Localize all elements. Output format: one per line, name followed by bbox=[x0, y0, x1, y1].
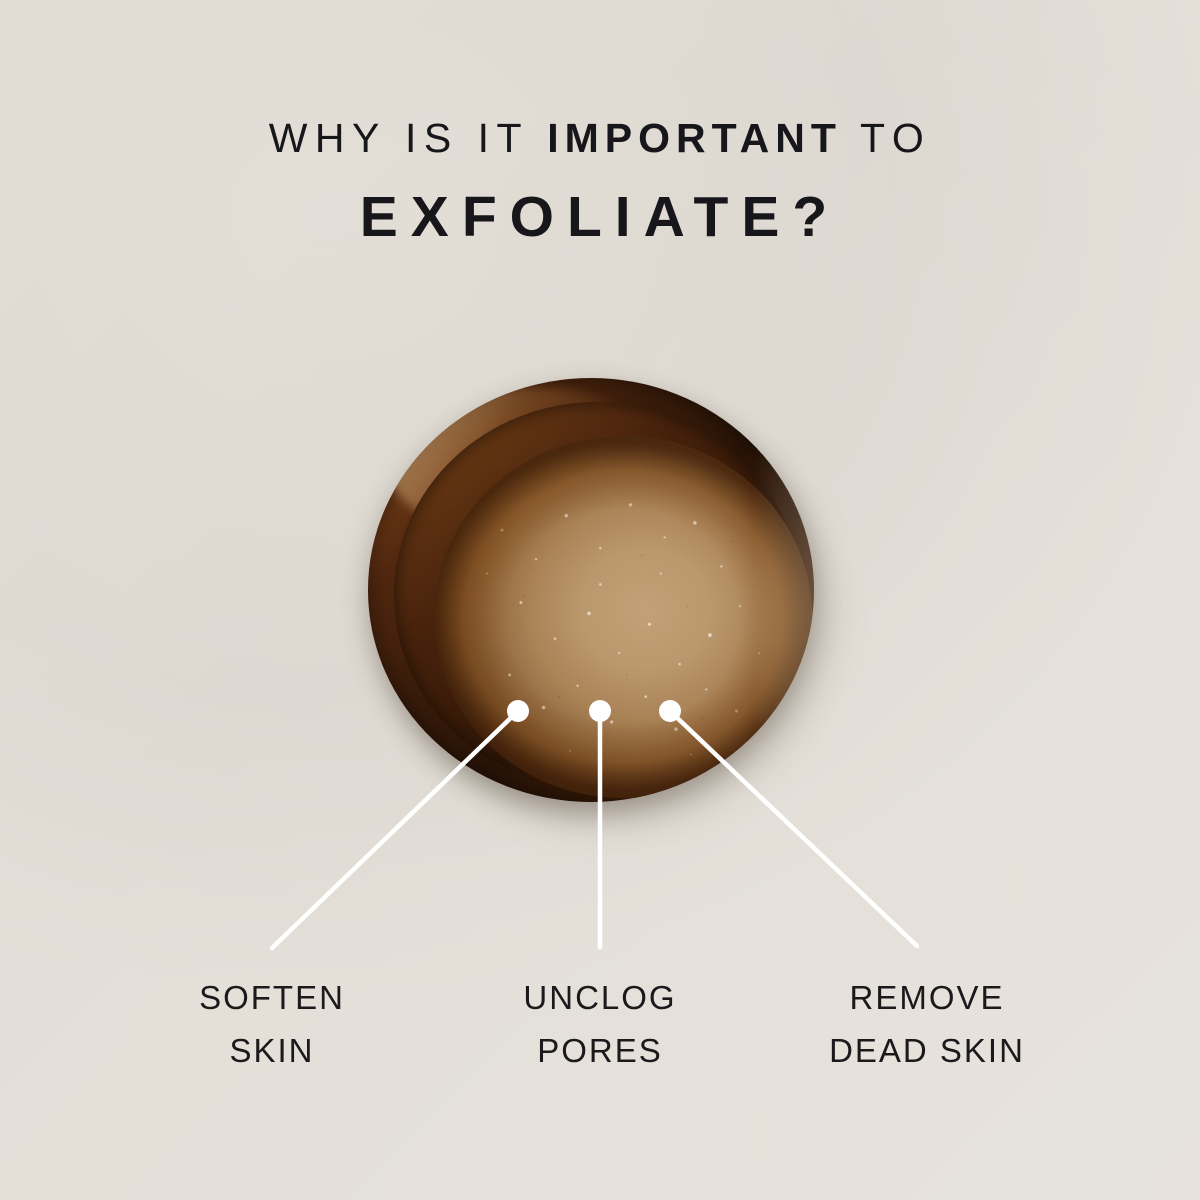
headline-line-2: EXFOLIATE? bbox=[0, 189, 1200, 246]
headline-line-1-emphasis: IMPORTANT bbox=[547, 115, 842, 161]
callout-label-line: DEAD SKIN bbox=[829, 1025, 1025, 1078]
callout-label-soften-skin: SOFTEN SKIN bbox=[199, 972, 345, 1078]
callout-label-line: PORES bbox=[523, 1025, 676, 1078]
headline-line-1: WHY IS IT IMPORTANT TO bbox=[0, 118, 1200, 159]
callout-label-unclog-pores: UNCLOG PORES bbox=[523, 972, 676, 1078]
scrub-edge-gloss bbox=[434, 436, 812, 798]
callout-label-line: SOFTEN bbox=[199, 972, 345, 1025]
callout-label-line: SKIN bbox=[199, 1025, 345, 1078]
callout-label-line: UNCLOG bbox=[523, 972, 676, 1025]
callout-label-line: REMOVE bbox=[829, 972, 1025, 1025]
sugar-scrub-surface bbox=[434, 436, 812, 798]
headline-line-1-part-1: WHY IS IT bbox=[269, 115, 548, 161]
headline-block: WHY IS IT IMPORTANT TO EXFOLIATE? bbox=[0, 118, 1200, 246]
callout-labels: SOFTEN SKIN UNCLOG PORES REMOVE DEAD SKI… bbox=[0, 972, 1200, 1082]
headline-line-1-part-3: TO bbox=[842, 115, 931, 161]
jar-inner-rim bbox=[394, 402, 800, 788]
product-jar-image bbox=[362, 372, 824, 820]
callout-label-remove-dead-skin: REMOVE DEAD SKIN bbox=[829, 972, 1025, 1078]
infographic-canvas: WHY IS IT IMPORTANT TO EXFOLIATE? bbox=[0, 0, 1200, 1200]
jar-glass-rim bbox=[368, 378, 814, 802]
